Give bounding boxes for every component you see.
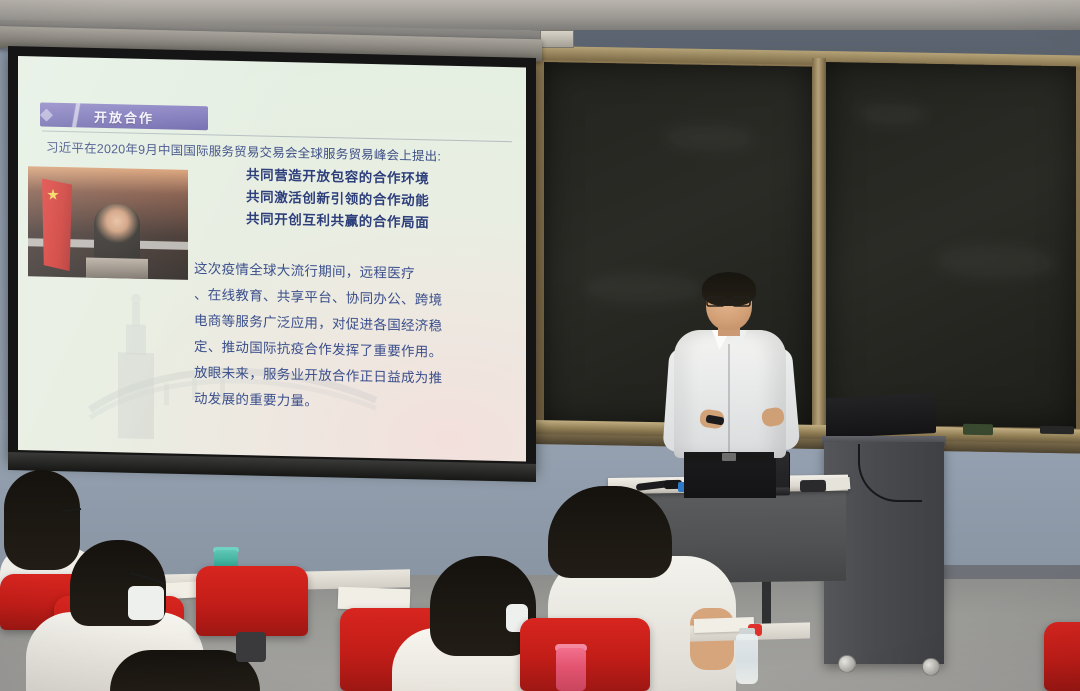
slide-bullet-list: 共同营造开放包容的合作环境 共同激活创新引领的合作动能 共同开创互利共赢的合作局… [246,164,506,235]
blackboard-panel-right [826,62,1076,428]
projected-slide: 开放合作 习近平在2020年9月中国国际服务贸易交易会全球服务贸易峰会上提出: … [18,56,526,462]
desk-paper [826,477,851,491]
wall-plate [540,30,574,48]
blackboard-divider [812,58,826,426]
photo-podium [86,258,148,280]
podium-laptop[interactable] [826,393,936,438]
slide-body-paragraph: 这次疫情全球大流行期间，远程医疗、在线教育、共享平台、协同办公、跨境电商等服务广… [194,256,514,419]
lecture-hall-photo: 开放合作 习近平在2020年9月中国国际服务贸易交易会全球服务贸易峰会上提出: … [0,0,1080,691]
presenter-trousers [684,458,776,498]
slide-title-text: 开放合作 [94,106,154,126]
water-bottle [736,634,758,684]
student-right-shirt-hair [548,486,672,578]
banner-slash-icon [64,103,90,128]
student-left-longhair-hair [4,470,80,570]
pink-tumbler [556,648,586,691]
chinese-flag-icon [42,179,72,272]
chalk-ledge-dark-item [1040,426,1074,435]
chair[interactable] [196,566,308,636]
slide-photo-speaker [28,166,188,280]
presenter-shirt [674,330,786,458]
chair[interactable] [1044,622,1080,691]
face-mask [128,586,164,620]
slide-lead-line: 习近平在2020年9月中国国际服务贸易交易会全球服务贸易峰会上提出: [46,137,506,166]
presenter-shirt-placket [728,344,730,454]
glasses-icon [128,570,170,586]
podium-caster [838,655,856,673]
desk-dark-object [800,480,826,492]
glasses-icon [706,296,751,307]
chalk-ledge-green-item [963,424,993,436]
slide-bullet: 共同开创互利共赢的合作局面 [246,208,506,236]
podium-caster [922,658,940,676]
chair-base [236,632,266,662]
presenter-belt-buckle [722,453,736,461]
glasses-icon [62,506,82,516]
